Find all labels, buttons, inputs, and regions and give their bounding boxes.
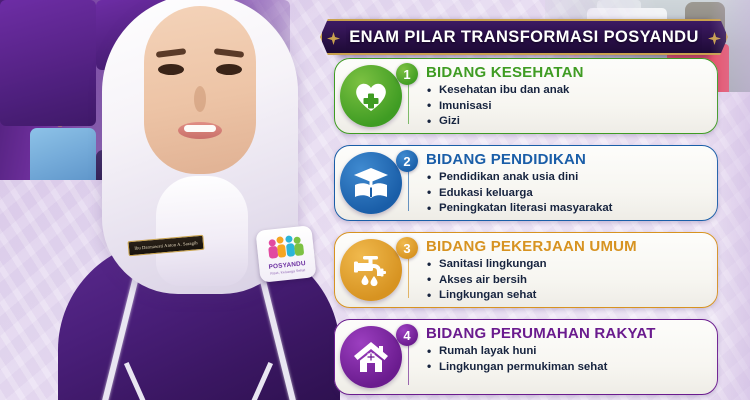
pillar-item-list: Pendidikan anak usia diniEdukasi keluarg… bbox=[427, 170, 612, 217]
logo-figure-body bbox=[294, 243, 304, 256]
lapel-trim bbox=[124, 362, 157, 400]
pillar-item: Kesehatan ibu dan anak bbox=[427, 83, 569, 99]
pillar-card-2[interactable]: 2BIDANG PENDIDIKANPendidikan anak usia d… bbox=[334, 145, 718, 221]
graduation-book-icon bbox=[340, 152, 402, 214]
pillar-card-4[interactable]: 4BIDANG PERUMAHAN RAKYATRumah layak huni… bbox=[334, 319, 718, 395]
pillar-number-badge: 2 bbox=[396, 150, 418, 172]
pillar-item: Edukasi keluarga bbox=[427, 186, 612, 202]
name-badge-label: Ibu Darmawati Anton A. Saragih bbox=[134, 240, 198, 251]
pillar-item: Gizi bbox=[427, 114, 569, 130]
pillar-item: Imunisasi bbox=[427, 99, 569, 115]
eyebrow bbox=[156, 48, 187, 58]
pillar-number-badge: 3 bbox=[396, 237, 418, 259]
faucet-water-icon bbox=[340, 239, 402, 301]
posyandu-family-mark bbox=[267, 235, 303, 262]
pillar-item: Sanitasi lingkungan bbox=[427, 257, 547, 273]
house-icon bbox=[340, 326, 402, 388]
pillar-title: BIDANG PERUMAHAN RAKYAT bbox=[426, 325, 656, 342]
pillar-item: Pendidikan anak usia dini bbox=[427, 170, 612, 186]
pillar-item: Lingkungan permukiman sehat bbox=[427, 360, 607, 376]
pillar-title: BIDANG PENDIDIKAN bbox=[426, 151, 586, 168]
nose bbox=[194, 86, 206, 112]
pillar-number-badge: 1 bbox=[396, 63, 418, 85]
logo-figure-head bbox=[285, 235, 293, 243]
pillar-card-3[interactable]: 3BIDANG PEKERJAAN UMUMSanitasi lingkunga… bbox=[334, 232, 718, 308]
page-title: ENAM PILAR TRANSFORMASI POSYANDU bbox=[349, 28, 699, 47]
face bbox=[144, 6, 256, 174]
posyandu-logo-patch: POSYANDU Riset, Keluarga Sehat bbox=[255, 225, 316, 283]
pillar-number-badge: 4 bbox=[396, 324, 418, 346]
pillar-card-list: 1BIDANG KESEHATANKesehatan ibu dan anakI… bbox=[334, 58, 718, 400]
presenter-portrait: Ibu Darmawati Anton A. Saragih POSYANDU … bbox=[60, 0, 335, 400]
eyebrow bbox=[214, 48, 245, 58]
eye bbox=[158, 64, 184, 75]
scarf-drape bbox=[156, 176, 248, 286]
pillar-item: Akses air bersih bbox=[427, 273, 547, 289]
pillar-item: Rumah layak huni bbox=[427, 344, 607, 360]
teeth bbox=[184, 125, 216, 132]
logo-figure-body bbox=[277, 244, 286, 258]
eye bbox=[216, 64, 242, 75]
page-title-banner: ENAM PILAR TRANSFORMASI POSYANDU bbox=[338, 19, 710, 55]
pillar-item-list: Rumah layak huniLingkungan permukiman se… bbox=[427, 344, 607, 375]
pillar-item-list: Sanitasi lingkunganAkses air bersihLingk… bbox=[427, 257, 547, 304]
pillar-item: Peningkatan literasi masyarakat bbox=[427, 201, 612, 217]
pillar-title: BIDANG PEKERJAAN UMUM bbox=[426, 238, 637, 255]
pillar-title: BIDANG KESEHATAN bbox=[426, 64, 584, 81]
pillar-item-list: Kesehatan ibu dan anakImunisasiGizi bbox=[427, 83, 569, 130]
heart-plus-icon bbox=[340, 65, 402, 127]
lapel-trim bbox=[240, 362, 273, 400]
logo-figure-head bbox=[276, 236, 284, 244]
pillar-card-1[interactable]: 1BIDANG KESEHATANKesehatan ibu dan anakI… bbox=[334, 58, 718, 134]
pillar-item: Lingkungan sehat bbox=[427, 288, 547, 304]
